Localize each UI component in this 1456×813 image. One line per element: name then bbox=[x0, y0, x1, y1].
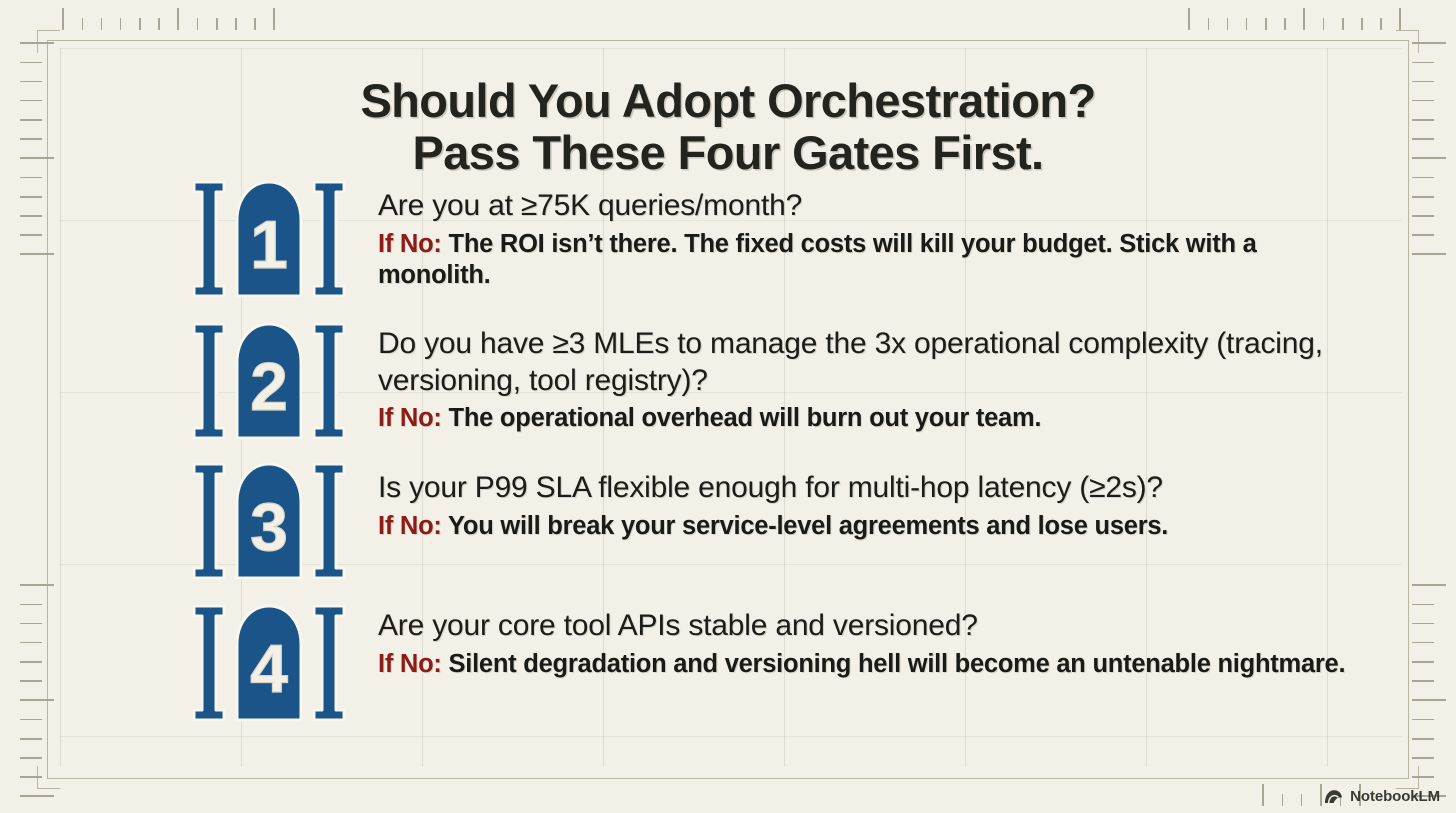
ruler-tick bbox=[1412, 215, 1434, 217]
ruler-tick bbox=[1188, 8, 1190, 30]
ruler-right-bottom bbox=[1412, 584, 1446, 813]
ruler-tick bbox=[1412, 699, 1446, 701]
ruler-tick bbox=[177, 8, 179, 30]
gate-item-1: 1 Are you at ≥75K queries/month? If No: … bbox=[190, 176, 1370, 302]
ruler-tick bbox=[1412, 234, 1434, 236]
gate-answer: If No: The ROI isn’t there. The fixed co… bbox=[378, 229, 1370, 291]
gate-question: Are your core tool APIs stable and versi… bbox=[378, 608, 1370, 645]
ruler-tick bbox=[20, 604, 42, 606]
notebooklm-logo-icon bbox=[1324, 789, 1343, 804]
ruler-tick bbox=[82, 18, 84, 30]
ruler-tick bbox=[1265, 18, 1267, 30]
gate-pillars-icon: 2 bbox=[190, 318, 350, 444]
ruler-tick bbox=[1412, 680, 1434, 682]
ruler-tick bbox=[20, 196, 42, 198]
if-no-label: If No: bbox=[378, 230, 442, 258]
ruler-tick bbox=[1227, 18, 1229, 30]
ruler-tick bbox=[1361, 18, 1363, 30]
gate-pillars-icon: 4 bbox=[190, 600, 350, 726]
gate-question: Are you at ≥75K queries/month? bbox=[378, 188, 1370, 225]
ruler-tick bbox=[1380, 18, 1382, 30]
ruler-tick bbox=[20, 719, 42, 721]
if-no-label: If No: bbox=[378, 404, 442, 432]
ruler-tick bbox=[1412, 62, 1434, 64]
gate-text-3: Is your P99 SLA flexible enough for mult… bbox=[378, 458, 1370, 542]
ruler-tick bbox=[1282, 794, 1284, 806]
title-line-1: Should You Adopt Orchestration? bbox=[0, 75, 1456, 126]
ruler-tick bbox=[158, 18, 160, 30]
ruler-tick bbox=[1320, 784, 1322, 806]
ruler-tick bbox=[20, 757, 42, 759]
ruler-tick bbox=[1284, 18, 1286, 30]
gate-text-4: Are your core tool APIs stable and versi… bbox=[378, 600, 1370, 680]
ruler-tick bbox=[197, 18, 199, 30]
ruler-tick bbox=[1412, 42, 1446, 44]
gate-item-4: 4 Are your core tool APIs stable and ver… bbox=[190, 600, 1370, 726]
ruler-top-right bbox=[1188, 8, 1419, 30]
gate-pillars-icon: 3 bbox=[190, 458, 350, 584]
ruler-tick bbox=[1412, 642, 1434, 644]
slide-canvas: Should You Adopt Orchestration? Pass The… bbox=[0, 0, 1456, 813]
page-title: Should You Adopt Orchestration? Pass The… bbox=[0, 75, 1456, 177]
ruler-tick bbox=[1412, 623, 1434, 625]
gate-number: 2 bbox=[250, 349, 288, 425]
ruler-tick bbox=[1323, 18, 1325, 30]
ruler-tick bbox=[1412, 253, 1446, 255]
gate-answer: If No: The operational overhead will bur… bbox=[378, 403, 1370, 434]
ruler-tick bbox=[20, 795, 54, 797]
gate-question: Is your P99 SLA flexible enough for mult… bbox=[378, 470, 1370, 507]
ruler-tick bbox=[20, 62, 42, 64]
gate-list: 1 Are you at ≥75K queries/month? If No: … bbox=[190, 176, 1370, 726]
ruler-tick bbox=[1301, 794, 1303, 806]
ruler-tick bbox=[1412, 757, 1434, 759]
ruler-tick bbox=[1399, 8, 1401, 30]
if-no-text: Silent degradation and versioning hell w… bbox=[449, 650, 1346, 678]
if-no-label: If No: bbox=[378, 650, 442, 678]
ruler-tick bbox=[20, 699, 54, 701]
gate-number: 3 bbox=[250, 489, 288, 565]
gate-number: 4 bbox=[250, 631, 288, 707]
ruler-tick bbox=[1412, 661, 1434, 663]
ruler-tick bbox=[254, 18, 256, 30]
gate-text-1: Are you at ≥75K queries/month? If No: Th… bbox=[378, 176, 1370, 291]
if-no-label: If No: bbox=[378, 512, 442, 540]
ruler-tick bbox=[235, 18, 237, 30]
gate-pillars-icon: 1 bbox=[190, 176, 350, 302]
gate-text-2: Do you have ≥3 MLEs to manage the 3x ope… bbox=[378, 318, 1370, 434]
frame-corner-top-right bbox=[1396, 30, 1419, 53]
ruler-tick bbox=[20, 215, 42, 217]
ruler-tick bbox=[1412, 776, 1434, 778]
ruler-tick bbox=[20, 234, 42, 236]
ruler-tick bbox=[1412, 584, 1446, 586]
ruler-tick bbox=[273, 8, 275, 30]
if-no-text: The operational overhead will burn out y… bbox=[449, 404, 1042, 432]
ruler-tick bbox=[20, 42, 54, 44]
notebooklm-watermark: NotebookLM bbox=[1324, 788, 1440, 805]
frame-corner-bottom-right bbox=[1396, 766, 1419, 789]
ruler-tick bbox=[1262, 784, 1264, 806]
ruler-left-bottom bbox=[20, 584, 54, 813]
ruler-tick bbox=[1412, 738, 1434, 740]
gate-item-3: 3 Is your P99 SLA flexible enough for mu… bbox=[190, 458, 1370, 584]
ruler-tick bbox=[20, 623, 42, 625]
ruler-tick bbox=[101, 18, 103, 30]
ruler-tick bbox=[20, 661, 42, 663]
frame-corner-top-left bbox=[37, 30, 60, 53]
ruler-tick bbox=[1342, 18, 1344, 30]
ruler-tick bbox=[216, 18, 218, 30]
if-no-text: You will break your service-level agreem… bbox=[448, 512, 1168, 540]
ruler-tick bbox=[62, 8, 64, 30]
title-line-2: Pass These Four Gates First. bbox=[0, 127, 1456, 178]
ruler-tick bbox=[1412, 719, 1434, 721]
ruler-tick bbox=[20, 680, 42, 682]
ruler-tick bbox=[20, 738, 42, 740]
gate-answer: If No: Silent degradation and versioning… bbox=[378, 649, 1370, 680]
gate-number: 1 bbox=[250, 207, 288, 283]
ruler-tick bbox=[1246, 18, 1248, 30]
frame-corner-bottom-left bbox=[37, 766, 60, 789]
gate-question: Do you have ≥3 MLEs to manage the 3x ope… bbox=[378, 326, 1370, 399]
ruler-tick bbox=[20, 584, 54, 586]
ruler-tick bbox=[1303, 8, 1305, 30]
ruler-tick bbox=[20, 776, 42, 778]
gate-answer: If No: You will break your service-level… bbox=[378, 511, 1370, 542]
ruler-tick bbox=[1412, 604, 1434, 606]
ruler-tick bbox=[1412, 196, 1434, 198]
if-no-text: The ROI isn’t there. The fixed costs wil… bbox=[378, 230, 1257, 289]
ruler-tick bbox=[1208, 18, 1210, 30]
ruler-tick bbox=[20, 253, 54, 255]
notebooklm-label: NotebookLM bbox=[1350, 788, 1440, 805]
ruler-top-left bbox=[62, 8, 293, 30]
ruler-tick bbox=[20, 642, 42, 644]
ruler-tick bbox=[139, 18, 141, 30]
gate-item-2: 2 Do you have ≥3 MLEs to manage the 3x o… bbox=[190, 318, 1370, 444]
ruler-tick bbox=[120, 18, 122, 30]
